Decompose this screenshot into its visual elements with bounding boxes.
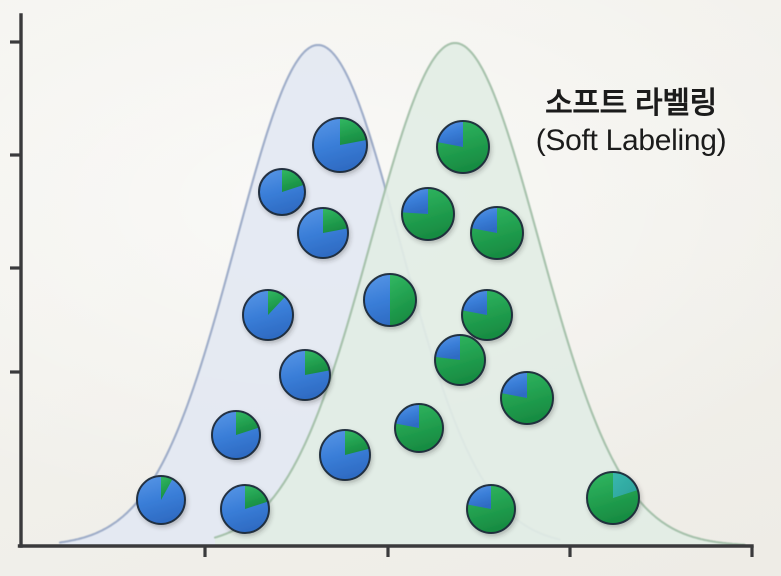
pie-marker bbox=[395, 404, 443, 452]
pie-marker bbox=[471, 207, 523, 259]
pie-marker bbox=[462, 290, 512, 340]
soft-labeling-figure: 소프트 라벨링 (Soft Labeling) bbox=[0, 0, 781, 576]
pie-marker bbox=[467, 485, 515, 533]
pie-marker bbox=[137, 476, 185, 524]
pie-marker bbox=[259, 169, 305, 215]
chart-title: 소프트 라벨링 (Soft Labeling) bbox=[495, 86, 767, 159]
pie-marker bbox=[402, 188, 454, 240]
pie-marker bbox=[587, 472, 639, 524]
pie-marker bbox=[243, 290, 293, 340]
pie-marker bbox=[364, 274, 416, 326]
pie-marker bbox=[501, 372, 553, 424]
pie-marker bbox=[280, 350, 330, 400]
pie-marker bbox=[320, 430, 370, 480]
pie-marker bbox=[435, 335, 485, 385]
pie-marker bbox=[298, 208, 348, 258]
title-latin: (Soft Labeling) bbox=[495, 123, 767, 160]
pie-marker bbox=[437, 121, 489, 173]
title-korean: 소프트 라벨링 bbox=[495, 86, 767, 123]
pie-marker bbox=[221, 485, 269, 533]
pie-marker bbox=[313, 118, 367, 172]
pie-marker bbox=[212, 411, 260, 459]
